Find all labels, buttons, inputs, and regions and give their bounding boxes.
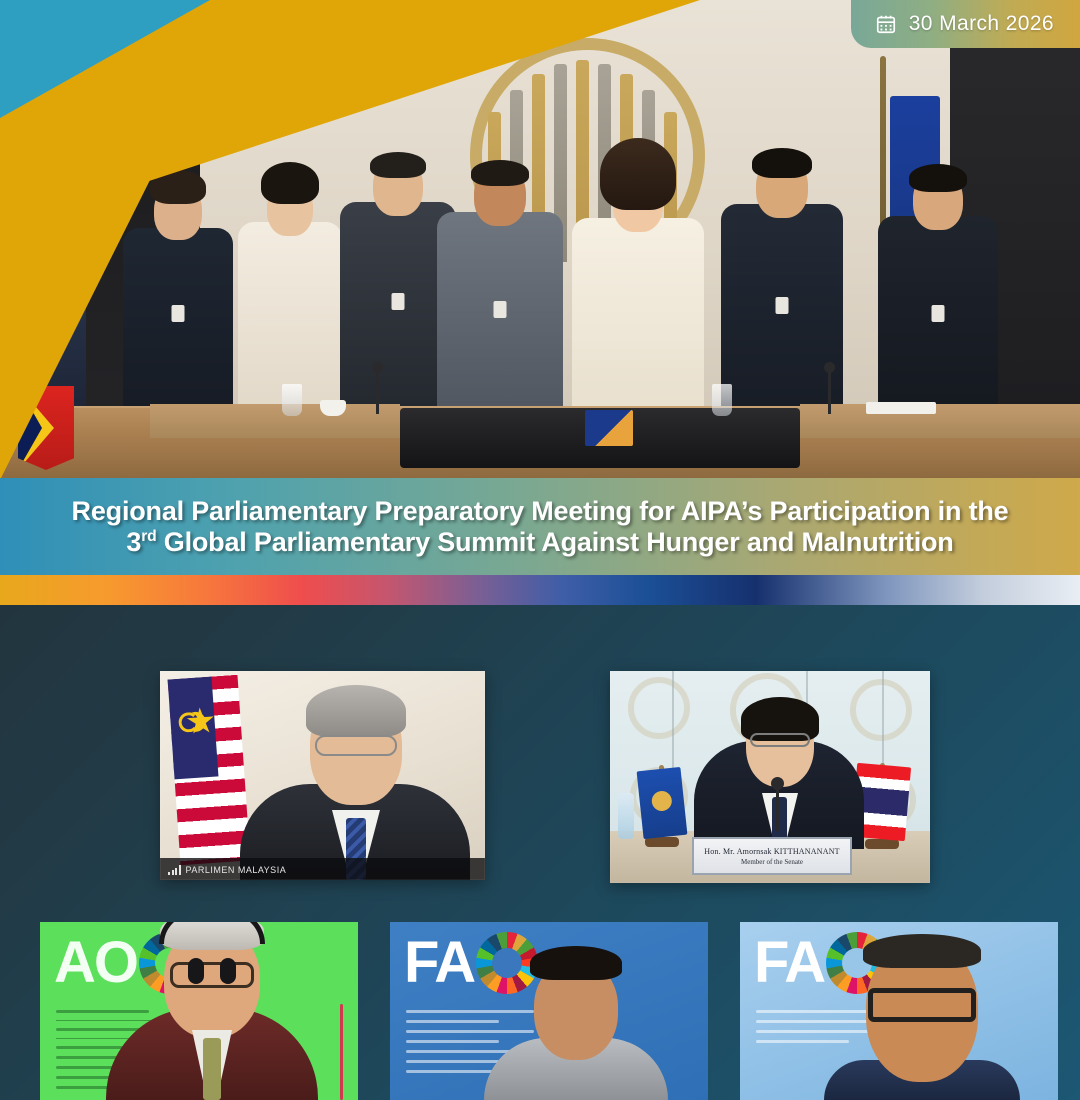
speaker-glasses <box>315 735 397 756</box>
title-ordinal-suffix: rd <box>141 528 156 545</box>
speaker-nameplate: Hon. Mr. Amornsak KITTHANANANT Member of… <box>692 837 852 875</box>
title-line-1: Regional Parliamentary Preparatory Meeti… <box>72 496 1009 526</box>
nameplate-title: Member of the Senate <box>741 858 803 866</box>
page-title: Regional Parliamentary Preparatory Meeti… <box>48 496 1033 556</box>
asean-table-flag <box>585 410 633 446</box>
fao-logo: FA <box>404 932 538 994</box>
tile-watermark: PARLIMEN MALAYSIA <box>168 865 286 875</box>
fao-logo-letters: FA <box>404 938 474 987</box>
video-tile-fao-blue[interactable]: FA <box>390 922 708 1100</box>
teal-corner-shape <box>0 0 210 118</box>
speaker-glasses <box>170 962 254 988</box>
speaker-glasses <box>750 733 810 747</box>
nameplate-name: Hon. Mr. Amornsak KITTHANANANT <box>704 847 840 856</box>
signal-bars-icon <box>168 865 181 875</box>
fao-logo-letters: FA <box>754 938 824 987</box>
calendar-icon <box>875 13 897 35</box>
sdg-wheel-icon <box>476 932 538 994</box>
video-tile-fao-green[interactable]: AO <box>40 922 358 1100</box>
fao-logo-letters: AO <box>54 938 137 987</box>
water-bottle <box>618 793 634 839</box>
watermark-text: PARLIMEN MALAYSIA <box>186 865 287 875</box>
date-text: 30 March 2026 <box>909 12 1054 36</box>
asean-flag-icon <box>637 767 688 839</box>
video-tile-malaysia[interactable]: PARLIMEN MALAYSIA <box>160 671 485 880</box>
hero-photo-container <box>0 0 1080 478</box>
date-badge: 30 March 2026 <box>851 0 1080 48</box>
title-ordinal-number: 3 <box>126 527 141 557</box>
rainbow-divider <box>0 575 1080 605</box>
video-tile-thailand[interactable]: Hon. Mr. Amornsak KITTHANANANT Member of… <box>610 671 930 883</box>
title-banner: Regional Parliamentary Preparatory Meeti… <box>0 478 1080 575</box>
speaker-hair <box>306 685 406 737</box>
malaysia-flag-icon <box>168 675 251 865</box>
microphone-icon <box>776 785 779 831</box>
video-tile-fao-lightblue[interactable]: FA <box>740 922 1058 1100</box>
title-line-2: Global Parliamentary Summit Against Hung… <box>156 527 953 557</box>
speaker-glasses <box>868 988 976 1022</box>
headset-icon <box>159 922 265 944</box>
